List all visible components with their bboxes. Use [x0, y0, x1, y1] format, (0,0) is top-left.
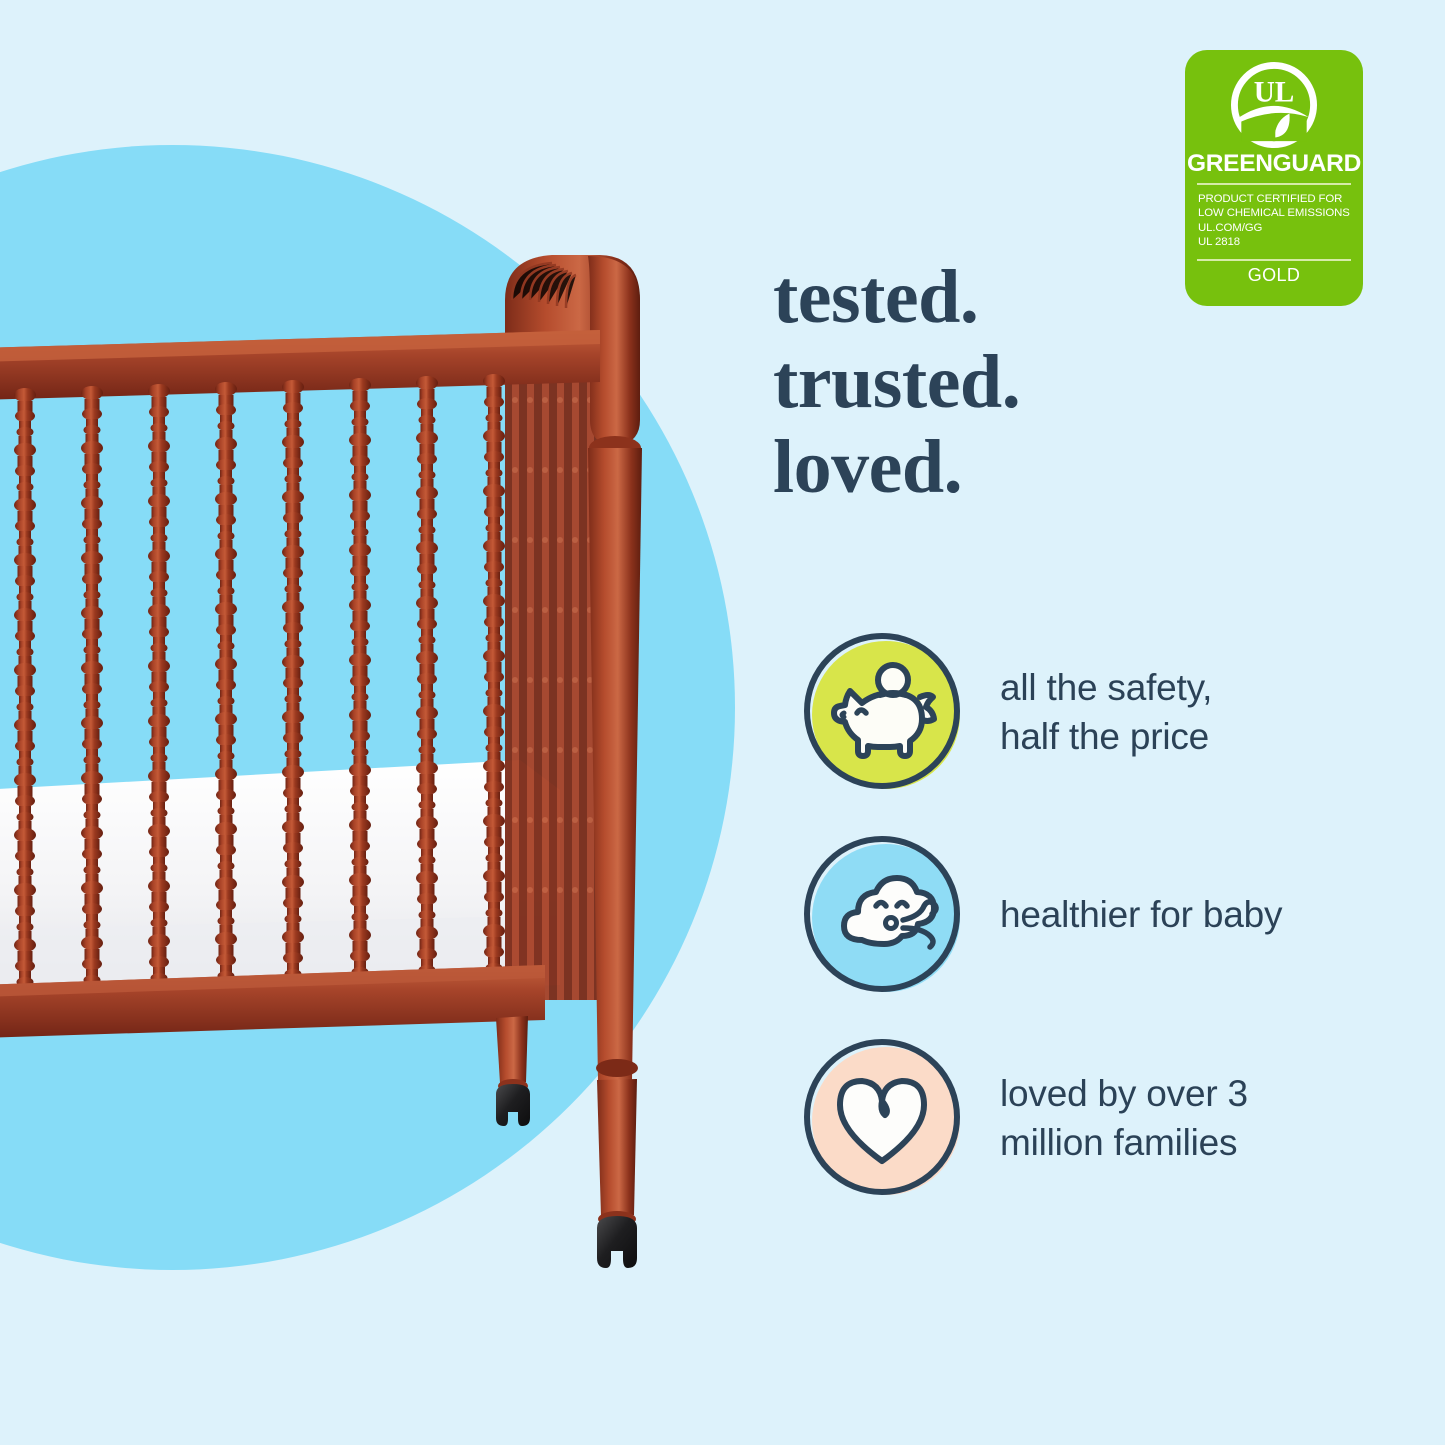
- cloud-blowing-icon: [800, 832, 968, 1000]
- svg-text:UL: UL: [1254, 77, 1295, 109]
- ul-leaf-icon: UL: [1231, 62, 1317, 148]
- feature-label-savings: all the safety, half the price: [1000, 664, 1212, 762]
- badge-divider-top: [1197, 183, 1351, 185]
- caster-front: [496, 1084, 530, 1126]
- piggy-bank-icon: [800, 629, 968, 797]
- marketing-hero-image: tested. trusted. loved.: [0, 0, 1445, 1445]
- badge-level: GOLD: [1185, 265, 1363, 286]
- crib-leg-corner: [588, 448, 642, 1227]
- headline-line-3: loved.: [773, 425, 1333, 510]
- feature-label-air-quality: healthier for baby: [1000, 891, 1282, 940]
- greenguard-certification-badge: UL GREENGUARD PRODUCT CERTIFIED FOR LOW …: [1185, 50, 1363, 306]
- badge-divider-bottom: [1197, 259, 1351, 261]
- heart-icon: [800, 1035, 968, 1203]
- feature-list: all the safety, half the price healthier…: [800, 625, 1420, 1206]
- feature-label-loved: loved by over 3 million families: [1000, 1070, 1248, 1168]
- crib-leg-front: [496, 1016, 528, 1093]
- headline-line-2: trusted.: [773, 340, 1333, 425]
- feature-item-loved: loved by over 3 million families: [800, 1031, 1420, 1206]
- badge-fine-print: PRODUCT CERTIFIED FOR LOW CHEMICAL EMISS…: [1198, 192, 1353, 249]
- badge-name: GREENGUARD: [1185, 150, 1363, 178]
- feature-item-air-quality: healthier for baby: [800, 828, 1420, 1003]
- product-crib-image: [0, 0, 700, 1310]
- caster-corner: [597, 1216, 637, 1268]
- feature-item-savings: all the safety, half the price: [800, 625, 1420, 800]
